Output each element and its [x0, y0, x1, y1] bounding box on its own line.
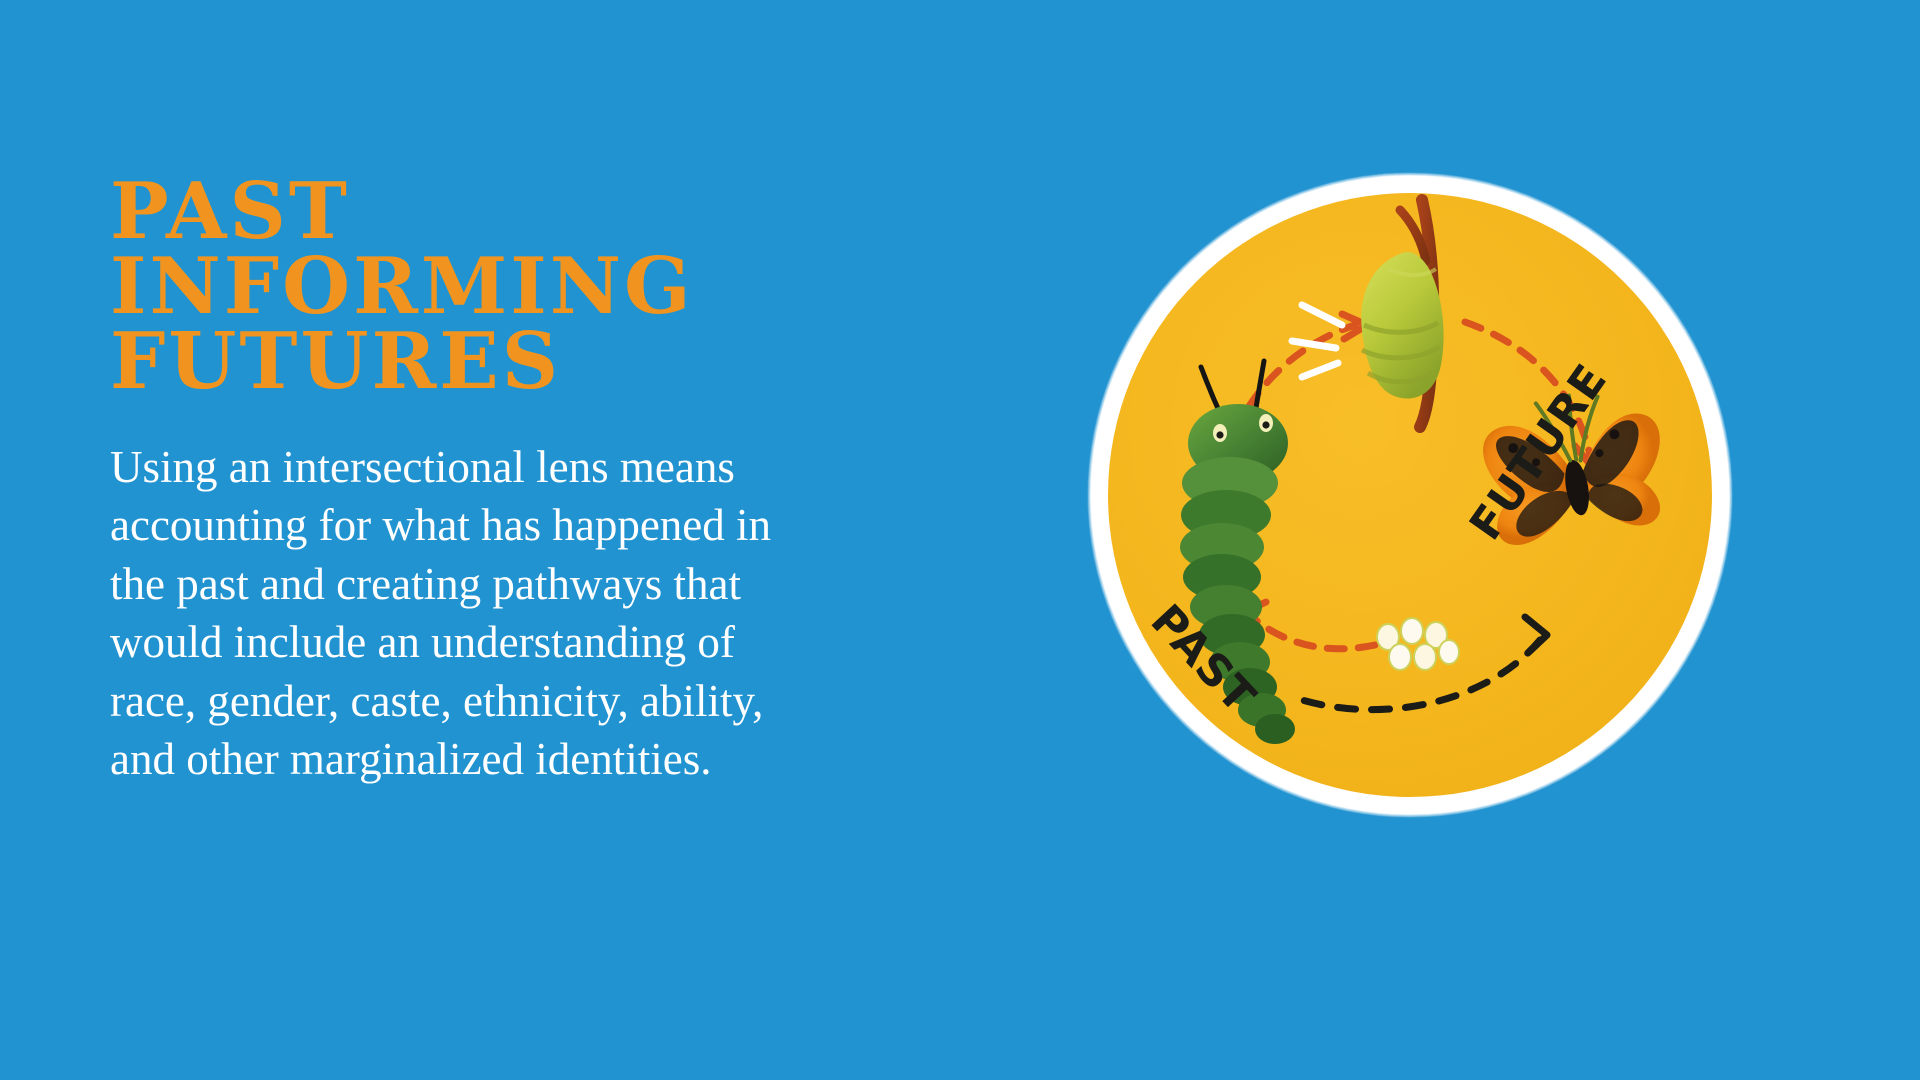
body-line-6: and other marginalized identities.: [110, 730, 1020, 789]
chrysalis-illustration: [1292, 200, 1444, 427]
lifecycle-artwork: [1070, 165, 1750, 855]
text-column: PAST INFORMING FUTURES Using an intersec…: [110, 175, 1040, 789]
body-line-2: accounting for what has happened in: [110, 496, 1020, 555]
slide-canvas: PAST INFORMING FUTURES Using an intersec…: [0, 0, 1920, 1080]
body-line-3: the past and creating pathways that: [110, 555, 1020, 614]
headline-line-3: FUTURES: [110, 325, 1040, 400]
page-title: PAST INFORMING FUTURES: [110, 175, 1040, 400]
body-line-5: race, gender, caste, ethnicity, ability,: [110, 672, 1020, 731]
headline-line-2: INFORMING: [110, 250, 1040, 325]
lifecycle-diagram: PAST FUTURE: [1070, 165, 1750, 855]
body-paragraph: Using an intersectional lens means accou…: [110, 438, 1020, 789]
body-line-1: Using an intersectional lens means: [110, 438, 1020, 497]
arrow-eggs-to-caterpillar: [1245, 602, 1375, 649]
headline-line-1: PAST: [110, 175, 1040, 250]
eggs-illustration: [1377, 618, 1459, 670]
body-line-4: would include an understanding of: [110, 613, 1020, 672]
